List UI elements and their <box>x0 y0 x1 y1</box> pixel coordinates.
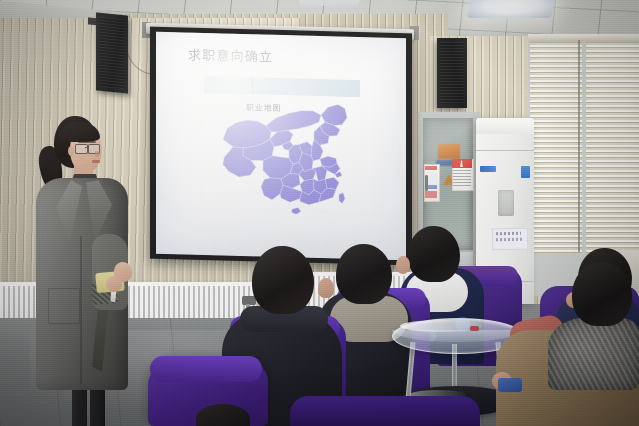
window-mullion-vertical <box>581 34 586 264</box>
blind-slats-left <box>530 40 582 255</box>
door-handle[interactable] <box>425 175 428 191</box>
presenter <box>34 116 142 416</box>
audience-member-c-head <box>408 226 460 282</box>
blind-slats-right <box>586 40 639 255</box>
presenter-hair-fringe <box>58 122 100 142</box>
air-conditioner-vent <box>498 190 514 216</box>
air-conditioner-top <box>476 118 534 134</box>
air-conditioner-notice-line-2 <box>496 238 523 241</box>
presenter-nose <box>95 151 100 157</box>
speaker-grille-right <box>440 42 464 104</box>
projection-screen-glare <box>156 32 406 261</box>
blind-cord[interactable] <box>578 40 580 252</box>
audience-member-a-head <box>252 246 314 314</box>
audience-member-b-head <box>336 244 392 304</box>
eyeglasses-bridge <box>85 147 89 148</box>
audience-member-c-hand <box>396 256 410 274</box>
ceiling-light-secondary <box>298 0 361 6</box>
audience-member-e-head <box>572 262 632 326</box>
air-conditioner-seam <box>476 150 534 151</box>
air-conditioner-brand-badge <box>480 166 496 172</box>
eyeglasses-lens-left <box>75 144 88 154</box>
presenter-ear <box>68 146 74 156</box>
audience-member-e-fur-texture <box>548 318 639 390</box>
speaker-grille-left <box>99 17 125 90</box>
audience-member-b-hand <box>318 278 334 298</box>
photo-scene: 求职意向确立 职业地图 <box>0 0 639 426</box>
presenter-eyebrow <box>78 141 96 143</box>
table-red-object <box>470 326 479 331</box>
audience-member-f-head <box>196 404 250 426</box>
air-conditioner-energy-label <box>521 166 530 178</box>
chair-left-front-armrest[interactable] <box>150 356 262 382</box>
audience-member-e-phone[interactable] <box>498 378 522 392</box>
ceiling-light <box>467 0 557 18</box>
presenter-hand-left <box>106 276 122 292</box>
presenter-mouth <box>92 160 100 163</box>
air-conditioner-notice-line-1 <box>496 232 521 235</box>
chair-foreground[interactable] <box>290 396 480 426</box>
